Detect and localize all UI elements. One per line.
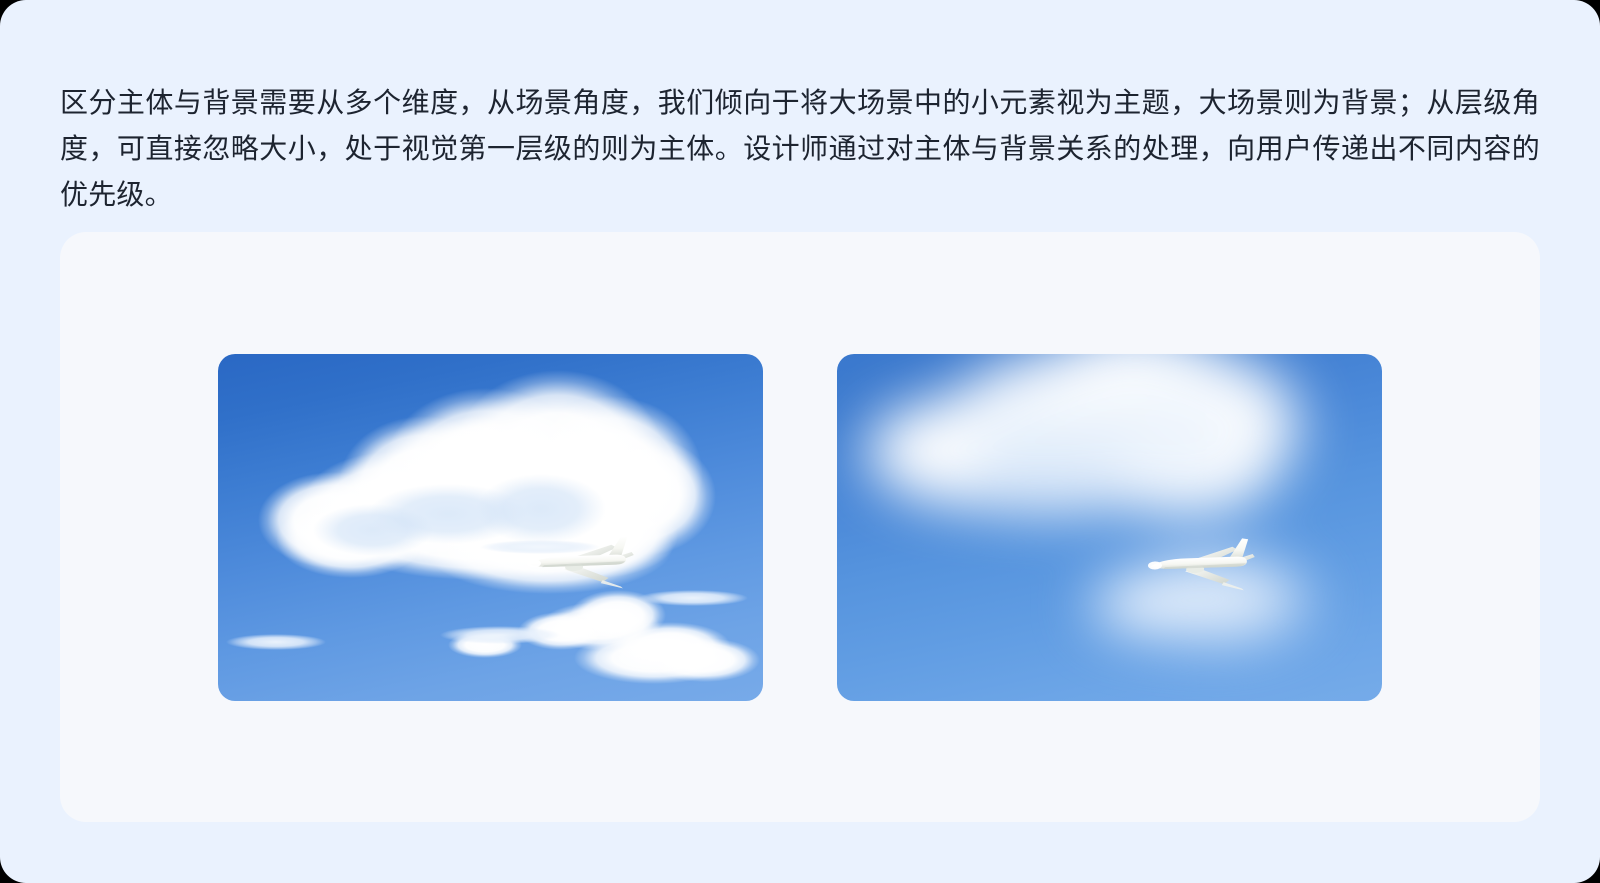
cloud-layer-blurred <box>837 354 1382 701</box>
showcase-panel <box>60 232 1540 822</box>
page-root: 区分主体与背景需要从多个维度，从场景角度，我们倾向于将大场景中的小元素视为主题，… <box>0 0 1600 883</box>
cloud-layer-sharp <box>218 354 763 701</box>
image-card-blurred[interactable] <box>837 354 1382 701</box>
body-paragraph: 区分主体与背景需要从多个维度，从场景角度，我们倾向于将大场景中的小元素视为主题，… <box>60 80 1540 218</box>
image-card-sharp[interactable] <box>218 354 763 701</box>
image-card-row <box>60 232 1540 822</box>
